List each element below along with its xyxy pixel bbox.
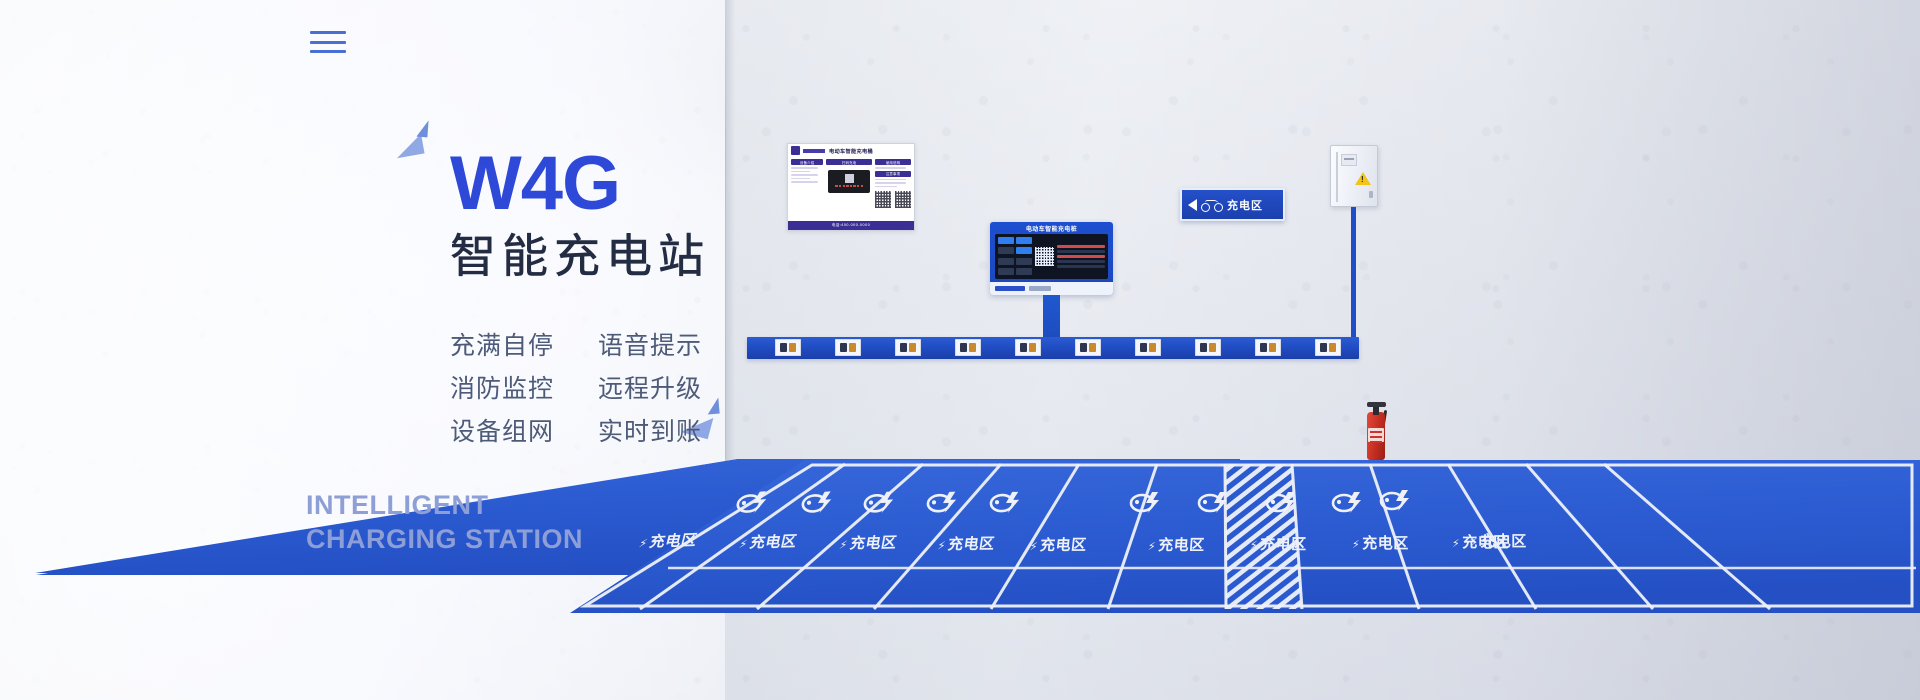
wall-socket[interactable]: [1135, 339, 1161, 356]
bay-label: ⚡充电区: [1029, 534, 1088, 555]
charging-pile-title: 电动车智能充电桩: [990, 222, 1113, 234]
warning-triangle-icon: [1355, 172, 1371, 185]
bay-charging-icon: [1330, 488, 1370, 518]
bay-label: ⚡充电区: [1147, 534, 1205, 555]
wall-socket[interactable]: [1195, 339, 1221, 356]
charging-pile-brandbar: [990, 282, 1113, 295]
parking-bays: [0, 448, 1920, 700]
bay-label: ⚡充电区: [838, 531, 899, 553]
charging-pile-ports[interactable]: [998, 237, 1032, 276]
feature-item: 设备组网: [450, 412, 568, 448]
hero-copy: W4G 智能充电站 充满自停语音提示消防监控远程升级设备组网实时到账: [450, 148, 870, 448]
electrical-cabinet[interactable]: [1330, 145, 1378, 207]
poster-chip-right-2: 注意事项: [875, 171, 911, 177]
feature-item: 实时到账: [598, 412, 716, 448]
charging-pile-brand-sub: [1029, 286, 1051, 291]
charging-pile-panel[interactable]: 电动车智能充电桩: [990, 222, 1113, 295]
extinguisher-handle: [1367, 402, 1386, 407]
poster-text-line: [875, 186, 897, 188]
power-conduit-vertical: [1351, 207, 1356, 342]
cabinet-lock-icon: [1369, 191, 1373, 198]
feature-item: 语音提示: [598, 326, 716, 362]
decorative-arrow-top: [395, 120, 441, 164]
cabinet-hinge: [1336, 152, 1338, 202]
extinguisher-neck: [1373, 406, 1379, 415]
subtitle-en: INTELLIGENT CHARGING STATION: [306, 492, 583, 553]
poster-text-line: [875, 182, 906, 184]
bay-label: ⚡充电区: [637, 529, 700, 552]
wall-socket[interactable]: [1255, 339, 1281, 356]
bay-charging-icon: [924, 487, 965, 518]
subtitle-line-2: CHARGING STATION: [306, 526, 583, 553]
charging-pile-screen: [995, 234, 1108, 279]
charging-pile-brand-logo: [995, 286, 1025, 291]
poster-column-right: 使用说明 注意事项: [875, 159, 911, 219]
poster-chip-right-1: 使用说明: [875, 159, 911, 165]
bay-charging-icon: [988, 488, 1029, 519]
direction-sign[interactable]: 充电区: [1180, 188, 1285, 221]
subtitle-line-1: INTELLIGENT: [306, 492, 583, 519]
cabinet-meter-display: [1341, 154, 1357, 166]
page-title-cn: 智能充电站: [450, 228, 870, 286]
bay-label: ⚡充电区: [936, 533, 996, 555]
wall-socket[interactable]: [1315, 339, 1341, 356]
feature-item: 远程升级: [598, 369, 716, 405]
wall-socket[interactable]: [895, 339, 921, 356]
charging-pile-qr-icon[interactable]: [1035, 247, 1054, 266]
bay-charging-icon: [734, 486, 777, 519]
page-title-en: W4G: [450, 148, 870, 220]
bay-label: ⚡充电区: [1352, 532, 1409, 553]
bay-charging-icon: [1196, 488, 1236, 518]
wall-socket[interactable]: [1075, 339, 1101, 356]
bay-charging-icon: [1128, 488, 1168, 518]
feature-list: 充满自停语音提示消防监控远程升级设备组网实时到账: [450, 326, 870, 448]
bay-charging-icon: [1378, 486, 1418, 516]
extinguisher-label: [1368, 428, 1384, 442]
wall-socket[interactable]: [1015, 339, 1041, 356]
qr-code-icon: [875, 191, 891, 208]
e-bike-icon: [1201, 198, 1223, 212]
poster-text-line: [875, 179, 906, 181]
feature-item: 消防监控: [450, 369, 568, 405]
poster-text-line: [875, 167, 906, 169]
wall-socket[interactable]: [955, 339, 981, 356]
hamburger-menu-icon[interactable]: [310, 31, 346, 53]
direction-sign-label: 充电区: [1227, 197, 1263, 213]
poster-qr-group: [875, 191, 911, 208]
feature-item: 充满自停: [450, 326, 568, 362]
bay-charging-icon: [799, 487, 841, 520]
bay-label: ⚡充电区: [738, 530, 800, 553]
hero-banner: 电动车智能充电桶 设备介绍 扫码充电: [0, 0, 1920, 700]
qr-code-icon: [895, 191, 911, 208]
arrow-left-icon: [1188, 199, 1197, 211]
charging-pile-status-lines: [1057, 237, 1105, 276]
bay-charging-icon: [861, 487, 903, 519]
bay-label: ⚡充电区: [1470, 530, 1527, 551]
bay-charging-icon: [1264, 488, 1304, 518]
bay-label: ⚡充电区: [1250, 533, 1308, 554]
